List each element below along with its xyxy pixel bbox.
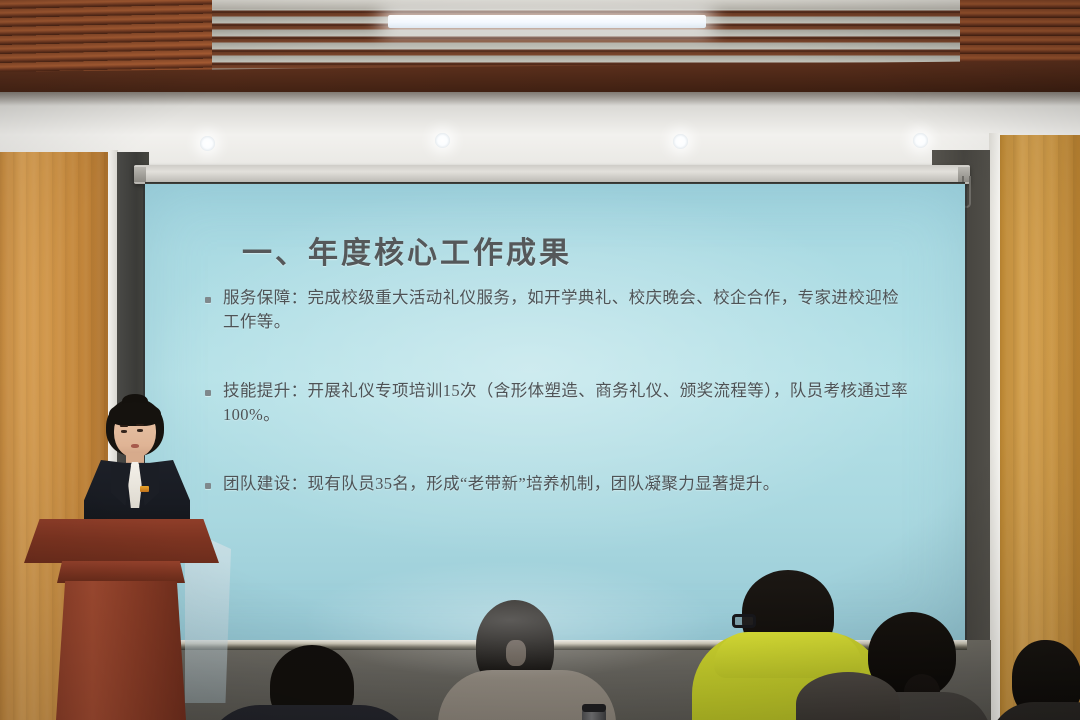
podium-neck [57,561,185,583]
audience-member-taupe-coat [432,600,632,720]
downlight-icon-1 [200,136,215,151]
presenter-hair-front [109,402,161,426]
slide-bullet-item: 服务保障：完成校级重大活动礼仪服务，如开学典礼、校庆晚会、校企合作，专家进校迎检… [205,286,913,335]
ceiling-wood-slats [0,0,1080,98]
slide-title: 一、年度核心工作成果 [242,228,913,272]
lecture-hall-photo: 一、年度核心工作成果 服务保障：完成校级重大活动礼仪服务，如开学典礼、校庆晚会、… [0,0,1080,720]
audience-head [796,672,900,720]
presenter-eye-right [137,429,143,432]
audience-member-left-dark-puffer [236,645,452,720]
slide-bullet-text: 团队建设：现有队员35名，形成“老带新”培养机制，团队凝聚力显著提升。 [223,472,780,496]
downlight-icon-2 [435,133,450,148]
presenter-mouth [131,444,139,448]
thermos-lid [582,704,606,712]
presenter-lapel-badge-icon [140,486,149,492]
screen-housing-endcap-left [134,167,146,182]
fluorescent-tube-light [388,15,706,28]
presenter-figure [78,398,196,528]
slide-bullet-text: 服务保障：完成校级重大活动礼仪服务，如开学典礼、校庆晚会、校企合作，专家进校迎检… [223,286,913,335]
slide-bullet-text: 技能提升：开展礼仪专项培训15次（含形体塑造、商务礼仪、颁奖流程等），队员考核通… [223,379,913,428]
presenter-eyebrow-left [120,425,128,427]
soffit-shadow-line [0,92,1080,106]
podium-top-surface [24,519,219,563]
audience-member-grey-head [796,672,906,720]
wall-wood-panel-right [998,135,1080,720]
eyeglasses-icon [732,614,756,628]
audience-hair-clip-icon [506,640,526,666]
slide-bullet-item: 团队建设：现有队员35名，形成“老带新”培养机制，团队凝聚力显著提升。 [205,472,913,496]
audience-member-right-edge [1012,640,1080,720]
slide-bullet-list: 服务保障：完成校级重大活动礼仪服务，如开学典礼、校庆晚会、校企合作，专家进校迎检… [205,286,913,496]
presenter-eyebrow-right [136,424,144,426]
bullet-square-icon [205,483,211,489]
downlight-icon-4 [913,133,928,148]
presenter-eye-left [121,430,127,433]
downlight-icon-3 [673,134,688,149]
slide-bullet-item: 技能提升：开展礼仪专项培训15次（含形体塑造、商务礼仪、颁奖流程等），队员考核通… [205,379,913,428]
bullet-square-icon [205,297,211,303]
podium-column [56,581,186,720]
bullet-square-icon [205,390,211,396]
